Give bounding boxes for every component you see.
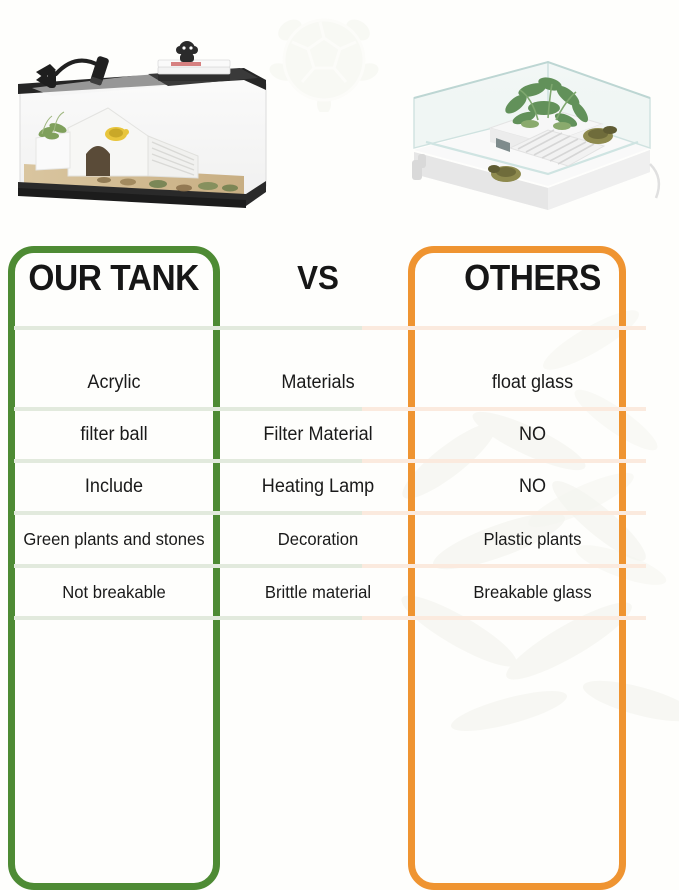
vs-label: VS xyxy=(297,259,339,297)
table-row: Include Heating Lamp NO xyxy=(0,463,679,511)
row-feature-label: Heating Lamp xyxy=(233,476,404,498)
row-ours-value: Green plants and stones xyxy=(6,529,223,550)
our-tank-title: OUR TANK xyxy=(29,257,199,299)
row-feature-label: Decoration xyxy=(233,529,404,550)
others-tank-photo xyxy=(398,42,666,226)
row-others-value: Plastic plants xyxy=(426,529,640,550)
header-cell-others: OTHERS xyxy=(420,257,645,299)
row-ours-value: Not breakable xyxy=(6,582,223,603)
header-cell-vs: VS xyxy=(228,259,408,297)
table-row: Green plants and stones Decoration Plast… xyxy=(0,515,679,563)
others-title: OTHERS xyxy=(464,257,601,299)
comparison-header-row: OUR TANK VS OTHERS xyxy=(0,250,679,306)
table-row: filter ball Filter Material NO xyxy=(0,411,679,459)
row-ours-value: filter ball xyxy=(6,424,223,446)
row-others-value: Breakable glass xyxy=(426,582,640,603)
row-feature-label: Materials xyxy=(233,372,404,394)
comparison-table: OUR TANK VS OTHERS Acrylic Materials flo… xyxy=(0,240,679,660)
product-photos xyxy=(0,0,679,240)
table-row: Acrylic Materials float glass xyxy=(0,359,679,407)
row-feature-label: Filter Material xyxy=(233,424,404,446)
our-tank-photo xyxy=(8,36,274,226)
row-ours-value: Acrylic xyxy=(6,372,223,394)
table-row: Not breakable Brittle material Breakable… xyxy=(0,568,679,616)
row-others-value: float glass xyxy=(426,372,640,394)
comparison-grid: OUR TANK VS OTHERS Acrylic Materials flo… xyxy=(0,240,679,660)
row-others-value: NO xyxy=(426,476,640,498)
row-others-value: NO xyxy=(426,424,640,446)
row-feature-label: Brittle material xyxy=(233,582,404,603)
header-cell-ours: OUR TANK xyxy=(0,257,228,299)
row-ours-value: Include xyxy=(6,476,223,498)
